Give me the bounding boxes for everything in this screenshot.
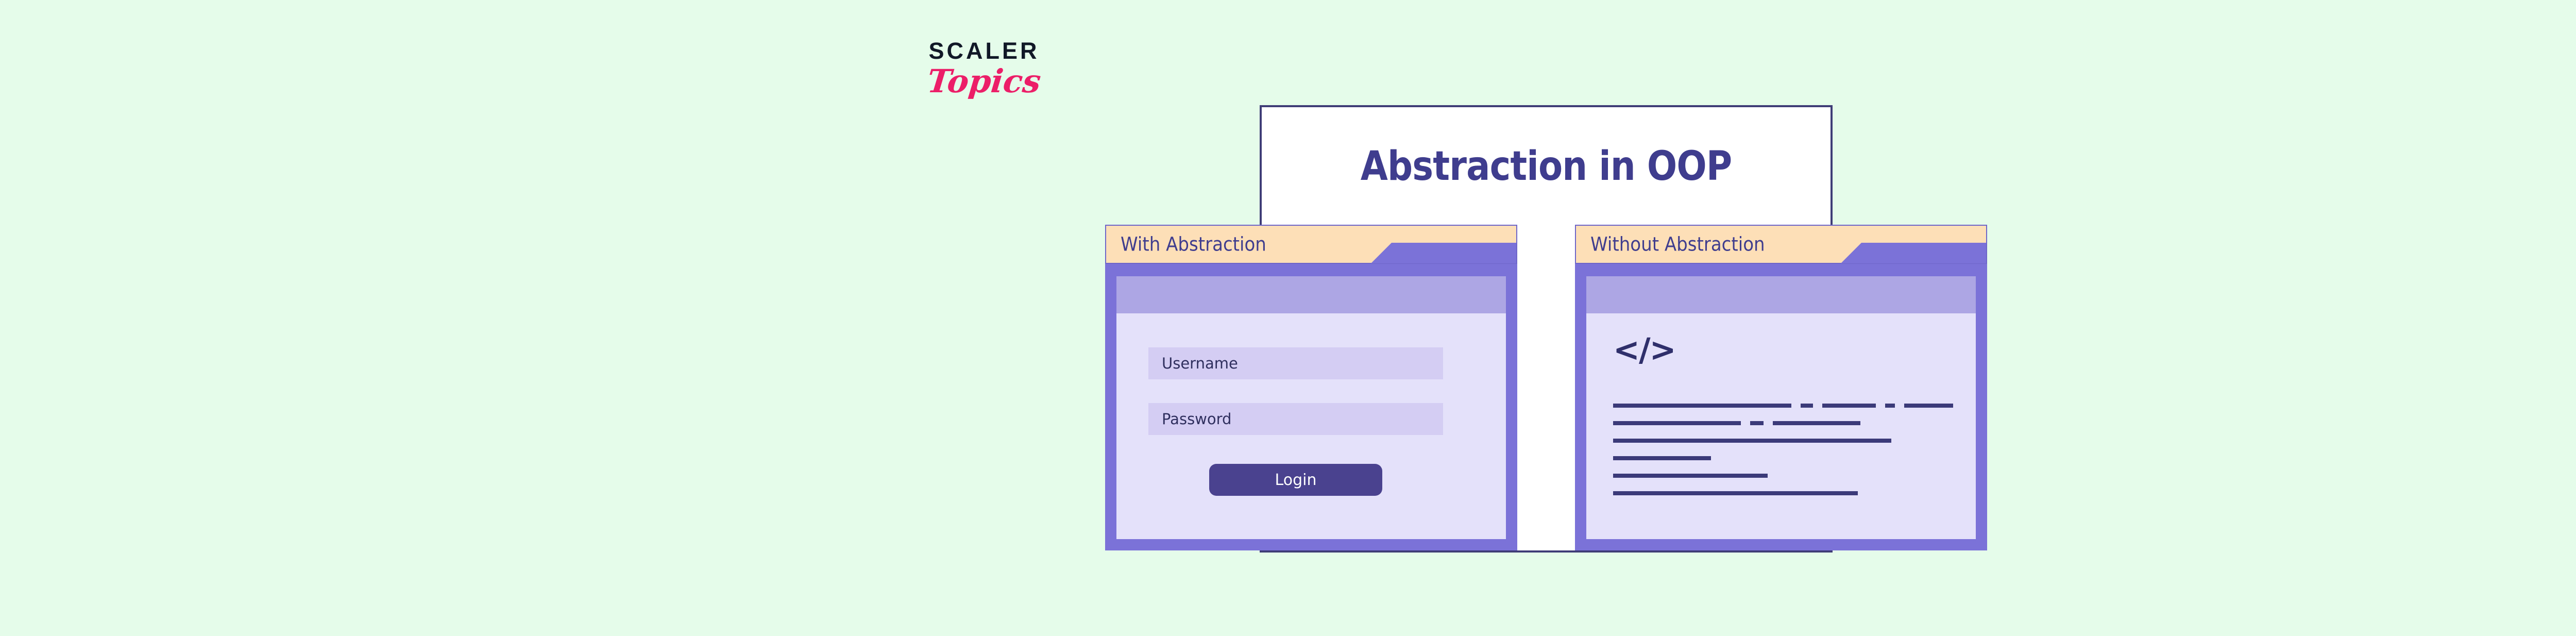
logo-wordmark-topics: Topics xyxy=(895,65,1074,97)
username-input-label: Username xyxy=(1162,355,1238,372)
code-line-segment xyxy=(1613,421,1741,425)
tab-with-abstraction[interactable]: With Abstraction xyxy=(1105,225,1517,264)
code-line-segment xyxy=(1613,439,1891,443)
login-button[interactable]: Login xyxy=(1209,464,1382,496)
window-without-abstraction: </> xyxy=(1586,276,1976,539)
panel-frame-without-abstraction: </> xyxy=(1575,263,1987,550)
code-icon: </> xyxy=(1613,334,1675,366)
code-line xyxy=(1613,397,1953,414)
code-line-segment xyxy=(1750,421,1764,425)
panel-without-abstraction: Without Abstraction </> xyxy=(1575,225,1987,550)
code-line-segment xyxy=(1885,404,1895,408)
code-line-segment xyxy=(1904,404,1953,408)
code-line-segment xyxy=(1773,421,1860,425)
tab-notch-shape xyxy=(1821,243,1986,263)
login-form: Username Password Login xyxy=(1116,313,1506,539)
code-line-placeholders xyxy=(1613,397,1953,502)
code-view: </> xyxy=(1586,313,1976,539)
code-line xyxy=(1613,484,1953,502)
code-line xyxy=(1613,467,1953,484)
password-input[interactable]: Password xyxy=(1148,403,1443,435)
code-line-segment xyxy=(1613,491,1858,495)
tab-notch-shape xyxy=(1351,243,1516,263)
username-input[interactable]: Username xyxy=(1148,347,1443,379)
tab-label-without-abstraction: Without Abstraction xyxy=(1590,233,1765,256)
code-line xyxy=(1613,414,1953,432)
password-input-label: Password xyxy=(1162,410,1231,428)
code-line-segment xyxy=(1801,404,1813,408)
code-line xyxy=(1613,449,1953,467)
window-titlebar-with-abstraction xyxy=(1116,276,1506,313)
panel-with-abstraction: With Abstraction Username Password Login xyxy=(1105,225,1517,550)
code-line-segment xyxy=(1613,456,1711,460)
code-line-segment xyxy=(1613,474,1768,478)
tab-without-abstraction[interactable]: Without Abstraction xyxy=(1575,225,1987,264)
page-title: Abstraction in OOP xyxy=(1296,143,1797,190)
code-line xyxy=(1613,432,1953,449)
window-titlebar-without-abstraction xyxy=(1586,276,1976,313)
panel-frame-with-abstraction: Username Password Login xyxy=(1105,263,1517,550)
code-line-segment xyxy=(1822,404,1876,408)
code-line-segment xyxy=(1613,404,1791,408)
logo-wordmark-scaler: SCALER xyxy=(896,39,1072,62)
window-with-abstraction: Username Password Login xyxy=(1116,276,1506,539)
scaler-topics-logo: SCALER Topics xyxy=(896,39,1072,116)
tab-label-with-abstraction: With Abstraction xyxy=(1121,233,1266,256)
